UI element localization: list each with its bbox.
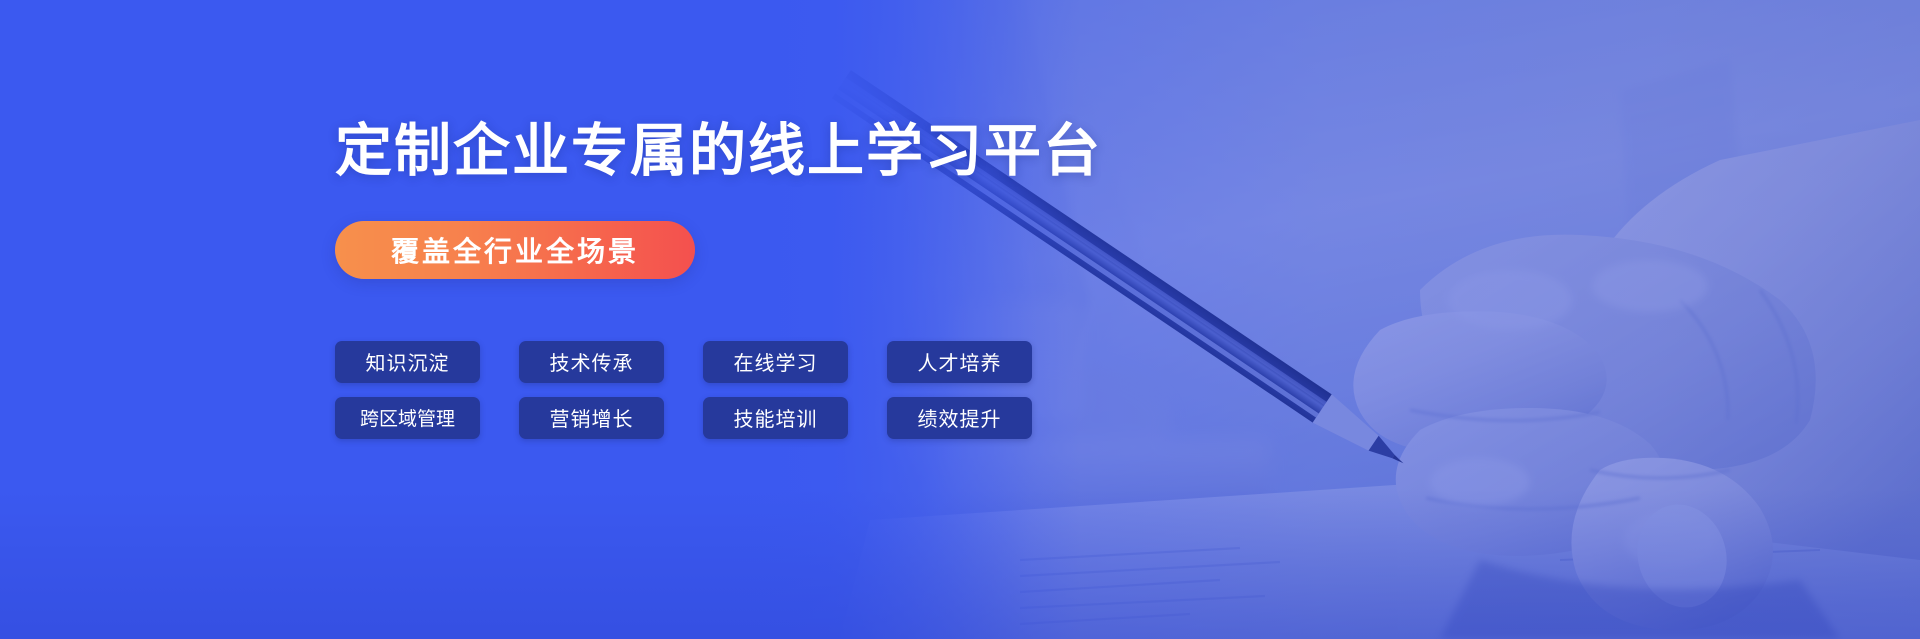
feature-tag-grid: 知识沉淀 技术传承 在线学习 人才培养 跨区域管理 营销增长 技能培训 绩效提升	[335, 341, 1087, 439]
feature-tag-marketing[interactable]: 营销增长	[519, 397, 664, 439]
banner-headline: 定制企业专属的线上学习平台	[335, 120, 1235, 183]
hero-banner: 定制企业专属的线上学习平台 覆盖全行业全场景 知识沉淀 技术传承 在线学习 人才…	[0, 0, 1920, 639]
bottom-vignette	[0, 489, 1920, 639]
feature-tag-cross-region[interactable]: 跨区域管理	[335, 397, 480, 439]
feature-tag-knowledge[interactable]: 知识沉淀	[335, 341, 480, 383]
coverage-badge[interactable]: 覆盖全行业全场景	[335, 221, 695, 279]
feature-tag-talent[interactable]: 人才培养	[887, 341, 1032, 383]
banner-content: 定制企业专属的线上学习平台 覆盖全行业全场景 知识沉淀 技术传承 在线学习 人才…	[335, 0, 1235, 439]
feature-tag-skill-training[interactable]: 技能培训	[703, 397, 848, 439]
feature-tag-online-study[interactable]: 在线学习	[703, 341, 848, 383]
feature-tag-tech-heritage[interactable]: 技术传承	[519, 341, 664, 383]
feature-tag-performance[interactable]: 绩效提升	[887, 397, 1032, 439]
